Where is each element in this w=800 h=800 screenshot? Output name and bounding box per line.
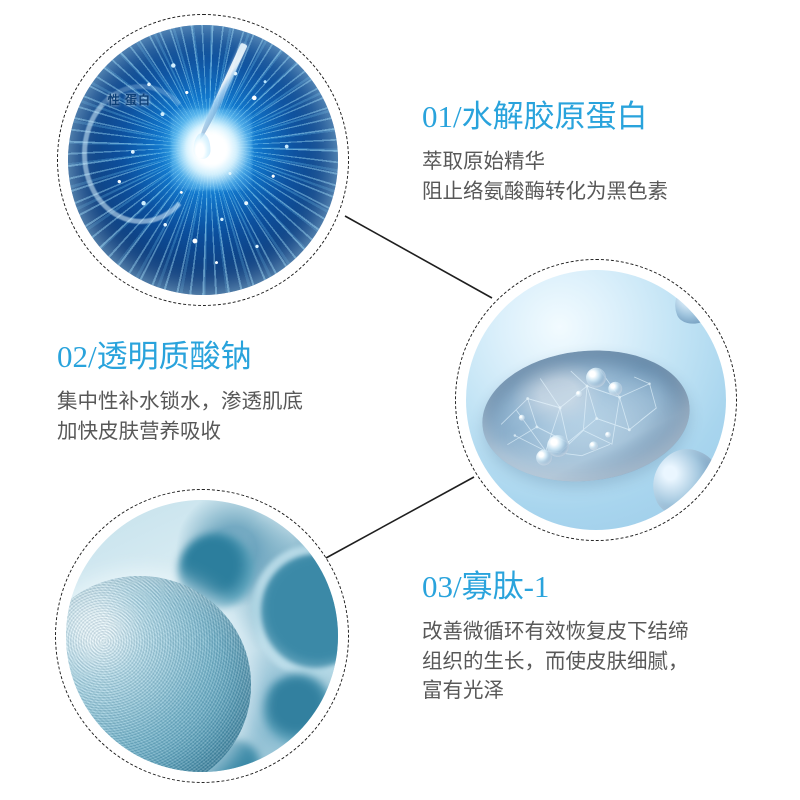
section-03-description: 改善微循环有效恢复皮下结缔 组织的生长，而使皮肤细腻， 富有光泽	[422, 617, 689, 706]
section-03-text: 03/寡肽-1 改善微循环有效恢复皮下结缔 组织的生长，而使皮肤细腻， 富有光泽	[422, 568, 689, 706]
dashed-ring-03	[55, 489, 349, 783]
dashed-ring-02	[455, 259, 737, 541]
section-02-heading: 02/透明质酸钠	[57, 338, 303, 376]
connector-03-to-02	[326, 477, 474, 558]
section-01-heading: 01/水解胶原蛋白	[422, 98, 668, 136]
circle-03	[55, 489, 349, 783]
circle-02	[455, 259, 737, 541]
connector-01-to-02	[345, 216, 492, 298]
circle-01: 性 蛋白	[57, 14, 349, 306]
infographic-canvas: 性 蛋白	[0, 0, 800, 800]
dashed-ring-01	[57, 14, 349, 306]
section-01-description: 萃取原始精华 阻止络氨酸酶转化为黑色素	[422, 147, 668, 206]
section-02-description: 集中性补水锁水，渗透肌底 加快皮肤营养吸收	[57, 387, 303, 446]
section-01-text: 01/水解胶原蛋白 萃取原始精华 阻止络氨酸酶转化为黑色素	[422, 98, 668, 206]
section-02-text: 02/透明质酸钠 集中性补水锁水，渗透肌底 加快皮肤营养吸收	[57, 338, 303, 446]
section-03-heading: 03/寡肽-1	[422, 568, 689, 606]
